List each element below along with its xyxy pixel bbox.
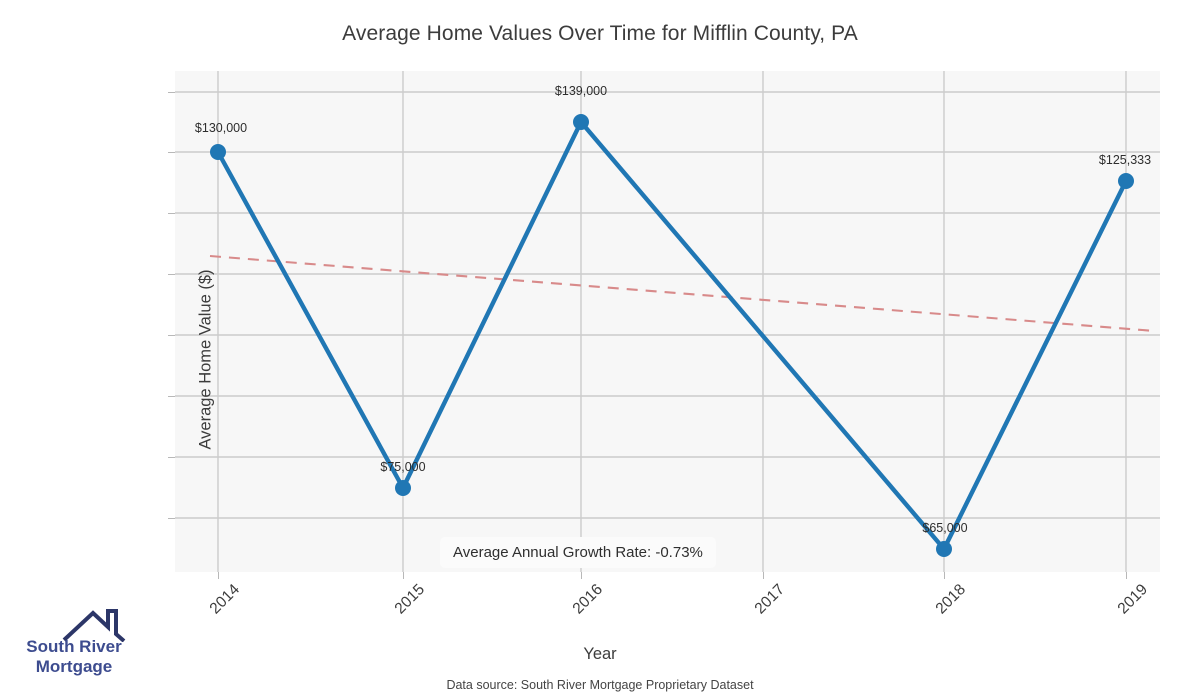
logo-line-1: South River xyxy=(14,637,134,657)
x-tick-label-2017: 2017 xyxy=(752,581,789,618)
x-tick-mark xyxy=(218,572,219,579)
page-title: Average Home Values Over Time for Miffli… xyxy=(0,22,1200,46)
data-point-2019 xyxy=(1118,173,1134,189)
trend-line xyxy=(210,256,1155,331)
x-tick-label-2016: 2016 xyxy=(570,581,607,618)
data-label-2018: $65,000 xyxy=(922,521,967,535)
horizontal-gridlines xyxy=(175,92,1160,518)
data-label-2015: $75,000 xyxy=(380,460,425,474)
x-axis-title: Year xyxy=(0,645,1200,664)
data-point-2016 xyxy=(573,114,589,130)
x-tick-mark xyxy=(1126,572,1127,579)
x-tick-label-2018: 2018 xyxy=(933,581,970,618)
data-label-2016: $139,000 xyxy=(555,84,607,98)
y-tick-mark xyxy=(168,518,175,519)
data-source-caption: Data source: South River Mortgage Propri… xyxy=(0,678,1200,692)
y-axis-title: Average Home Value ($) xyxy=(197,110,216,610)
chart-canvas xyxy=(175,71,1160,572)
y-tick-mark xyxy=(168,274,175,275)
y-tick-mark xyxy=(168,457,175,458)
x-tick-mark xyxy=(763,572,764,579)
x-tick-label-2015: 2015 xyxy=(392,581,429,618)
y-tick-mark xyxy=(168,92,175,93)
data-label-2019: $125,333 xyxy=(1099,153,1151,167)
x-tick-label-2019: 2019 xyxy=(1115,581,1152,618)
y-tick-mark xyxy=(168,152,175,153)
y-tick-mark xyxy=(168,396,175,397)
logo-line-2: Mortgage xyxy=(14,657,134,677)
growth-rate-annotation: Average Annual Growth Rate: -0.73% xyxy=(440,537,716,568)
vertical-gridlines xyxy=(218,71,1126,572)
y-tick-mark xyxy=(168,335,175,336)
y-tick-mark xyxy=(168,213,175,214)
data-point-2018 xyxy=(936,541,952,557)
data-point-2015 xyxy=(395,480,411,496)
plot-area: $140,000 $130,000 $120,000 $110,000 $100… xyxy=(175,71,1160,572)
x-tick-mark xyxy=(403,572,404,579)
x-tick-mark xyxy=(944,572,945,579)
brand-logo: South River Mortgage xyxy=(14,608,134,678)
x-tick-mark xyxy=(581,572,582,579)
logo-text: South River Mortgage xyxy=(14,637,134,677)
